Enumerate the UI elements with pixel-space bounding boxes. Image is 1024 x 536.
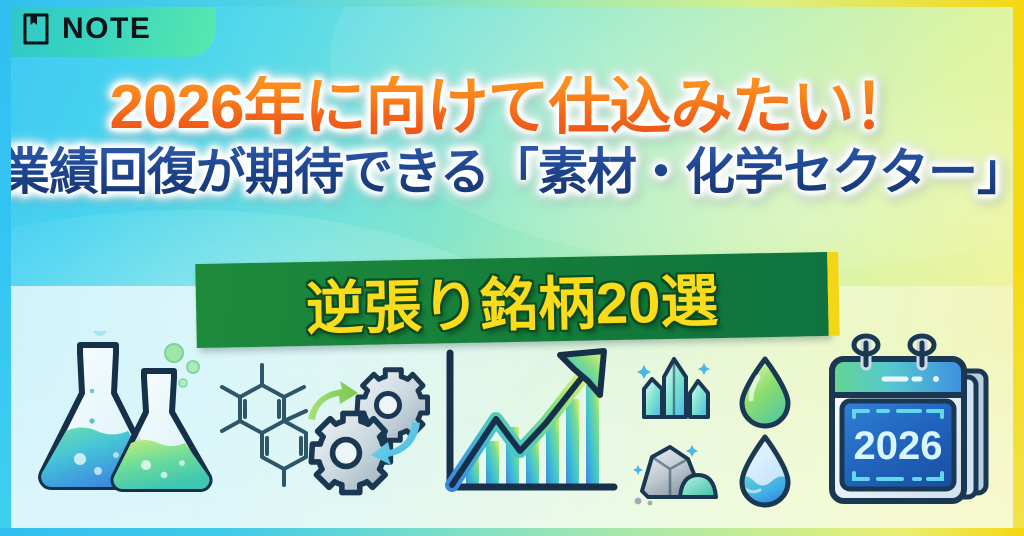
illustration-row: 2026 (0, 332, 1024, 528)
gears-icon (300, 361, 430, 502)
blue-droplet-icon (734, 433, 796, 516)
headline-block: 2026年に向けて仕込みたい！ 業績回復が期待できる「素材・化学セクター」 (0, 76, 1024, 199)
promo-banner: NOTE 2026年に向けて仕込みたい！ 業績回復が期待できる「素材・化学セクタ… (0, 0, 1024, 536)
calendar-icon: 2026 (818, 333, 1002, 516)
frame-edge-left (0, 0, 11, 536)
growth-chart-icon (424, 341, 620, 514)
note-badge-label: NOTE (62, 12, 151, 46)
headline-line-1: 2026年に向けて仕込みたい！ (0, 76, 1024, 140)
chemistry-flasks-icon (36, 331, 246, 514)
headline-line-2: 業績回復が期待できる「素材・化学セクター」 (0, 146, 1024, 199)
frame-edge-top (0, 0, 1024, 7)
crystals-icon (634, 355, 718, 432)
document-bookmark-icon (22, 13, 50, 45)
note-badge: NOTE (0, 0, 216, 57)
green-droplet-icon (734, 355, 796, 436)
minerals-rocks-icon (630, 435, 722, 514)
calendar-year-label: 2026 (854, 424, 943, 468)
frame-edge-right (1013, 0, 1024, 536)
frame-edge-bottom (0, 528, 1024, 536)
